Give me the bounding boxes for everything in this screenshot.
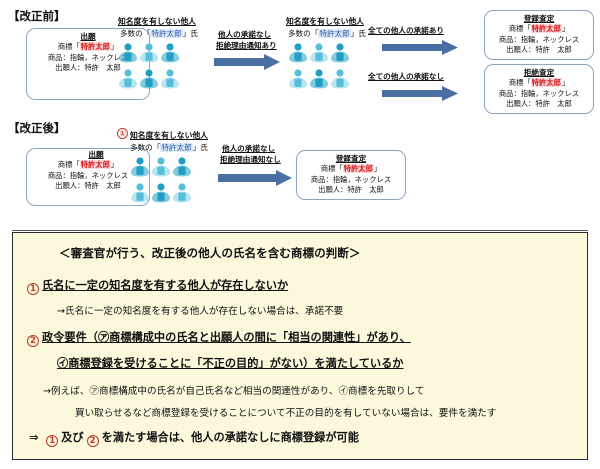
arrow-label-after-line2: 拒絶理由通知なし [220,155,281,165]
people-subheading-before-right: 多数の「特許太郎」氏 [288,28,366,39]
person-icon [288,42,308,67]
flow-arrow-before-3 [382,86,458,105]
panel-item-2-text-a: 政令要件（㋐商標構成中の氏名と出願人の間に「相当の関連性」があり、 [42,331,411,344]
conclusion-mid: 及び [61,431,83,444]
person-icon [118,68,138,93]
people-group-before-right [288,42,350,93]
trademark-name-highlight: 特許太郎 [80,42,111,51]
person-icon [172,156,192,177]
result-box-refuse-before: 拒絶査定 商標「特許太郎」 商品：指輪，ネックレス 出願人：特許 太郎 [484,64,594,114]
person-icon [151,182,171,207]
person-icon [151,156,171,181]
person-icon [309,42,329,67]
result-grant-after-trademark: 商標「特許太郎」 [297,164,405,175]
person-icon [130,156,150,177]
people-subheading-before-left: 多数の「特許太郎」氏 [120,28,198,39]
result-grant-applicant: 出願人：特許 太郎 [485,45,593,56]
panel-item-1-text: 氏名に一定の知名度を有する他人が存在しないか [42,279,288,292]
person-icon [160,42,180,63]
person-icon [288,68,308,89]
person-icon [139,42,159,67]
panel-conclusion: ⇒ 1及び2を満たす場合は、他人の承諾なしに商標登録が可能 [29,429,359,447]
person-icon [172,156,192,181]
person-icon [330,42,350,67]
arrow-label-after-line1: 他人の承諾なし [222,144,275,154]
result-grant-after-goods: 商品：指輪，ネックレス [297,175,405,186]
panel-item-1: 1氏名に一定の知名度を有する他人が存在しないか [27,277,288,295]
panel-item-2: 2政令要件（㋐商標構成中の氏名と出願人の間に「相当の関連性」があり、 [27,329,411,347]
marker-circle-1: ① [117,128,128,139]
result-grant-goods: 商品：指輪，ネックレス [485,35,593,46]
person-icon [130,156,150,181]
people-name-highlight: 特許太郎 [150,29,182,38]
conclusion-number-1: 1 [46,435,58,447]
result-refuse-trademark: 商標「特許太郎」 [485,78,593,89]
result-grant-after-applicant: 出願人：特許 太郎 [297,185,405,196]
person-icon [309,42,329,63]
explanation-panel: ＜審査官が行う、改正後の他人の氏名を含む商標の判断＞ 1氏名に一定の知名度を有す… [12,232,588,460]
panel-item-2-number: 2 [27,335,39,347]
person-icon [139,68,159,93]
people-subheading-after: 多数の「特許太郎」氏 [130,142,208,153]
person-icon [172,182,192,203]
person-icon [309,68,329,89]
panel-item-2-text-b: ㋑商標登録を受けることに「不正の目的」がない）を満たしているか [57,357,403,370]
panel-item-2-note-2: 買い取らせるなど商標登録を受けることについて不正の目的を有していない場合は、要件… [75,405,496,419]
person-icon [139,42,159,63]
conclusion-arrow-glyph: ⇒ [29,431,38,444]
person-icon [118,68,138,89]
flow-arrow-after [218,170,292,190]
panel-item-2-cont: ㋑商標登録を受けることに「不正の目的」がない）を満たしているか [57,355,403,371]
panel-heading: ＜審査官が行う、改正後の他人の氏名を含む商標の判断＞ [59,245,360,261]
section-title-after: 【改正後】 [8,120,66,136]
person-icon [130,182,150,203]
people-heading-before-right: 知名度を有しない他人 [286,16,364,27]
section-title-before: 【改正前】 [8,8,66,24]
section-divider [12,230,588,231]
person-icon [160,68,180,89]
arrow-label-before-2: 全ての他人の承諾あり [368,26,444,36]
people-group-before-left [118,42,180,93]
result-box-grant-before: 登録査定 商標「特許太郎」 商品：指輪，ネックレス 出願人：特許 太郎 [484,10,594,60]
person-icon [330,42,350,63]
panel-item-1-number: 1 [27,283,39,295]
person-icon [118,42,138,63]
result-box-grant-after: 登録査定 商標「特許太郎」 商品：指輪，ネックレス 出願人：特許 太郎 [296,150,406,200]
person-icon [172,182,192,207]
person-icon [130,182,150,207]
person-icon [330,68,350,89]
person-icon [160,68,180,93]
flow-arrow-before-1 [214,54,280,74]
person-icon [288,42,308,63]
result-refuse-title: 拒絶査定 [485,68,593,78]
people-heading-before-left: 知名度を有しない他人 [118,16,196,27]
arrow-label-before-1-line2: 拒絶理由通知あり [216,41,277,51]
people-heading-after: 知名度を有しない他人 [130,130,208,141]
person-icon [139,68,159,89]
person-icon [309,68,329,93]
person-icon [288,68,308,93]
conclusion-number-2: 2 [87,435,99,447]
result-refuse-goods: 商品：指輪，ネックレス [485,89,593,100]
conclusion-tail: を満たす場合は、他人の承諾なしに商標登録が可能 [102,431,359,444]
person-icon [160,42,180,67]
result-grant-after-title: 登録査定 [297,154,405,164]
result-grant-title: 登録査定 [485,14,593,24]
person-icon [118,42,138,67]
person-icon [330,68,350,93]
result-refuse-applicant: 出願人：特許 太郎 [485,99,593,110]
flow-arrow-before-2 [382,40,458,59]
panel-item-2-note-1: →例えば、㋐商標構成中の氏名が自己氏名など相当の関連性があり、㋑商標を先取りして [43,383,425,397]
result-grant-trademark: 商標「特許太郎」 [485,24,593,35]
panel-item-1-note: →氏名に一定の知名度を有する他人が存在しない場合は、承諾不要 [57,303,343,317]
arrow-label-before-3: 全ての他人の承諾なし [368,72,444,82]
person-icon [151,182,171,203]
arrow-label-before-1-line1: 他人の承諾なし [218,30,271,40]
person-icon [151,156,171,177]
people-group-after [130,156,192,207]
